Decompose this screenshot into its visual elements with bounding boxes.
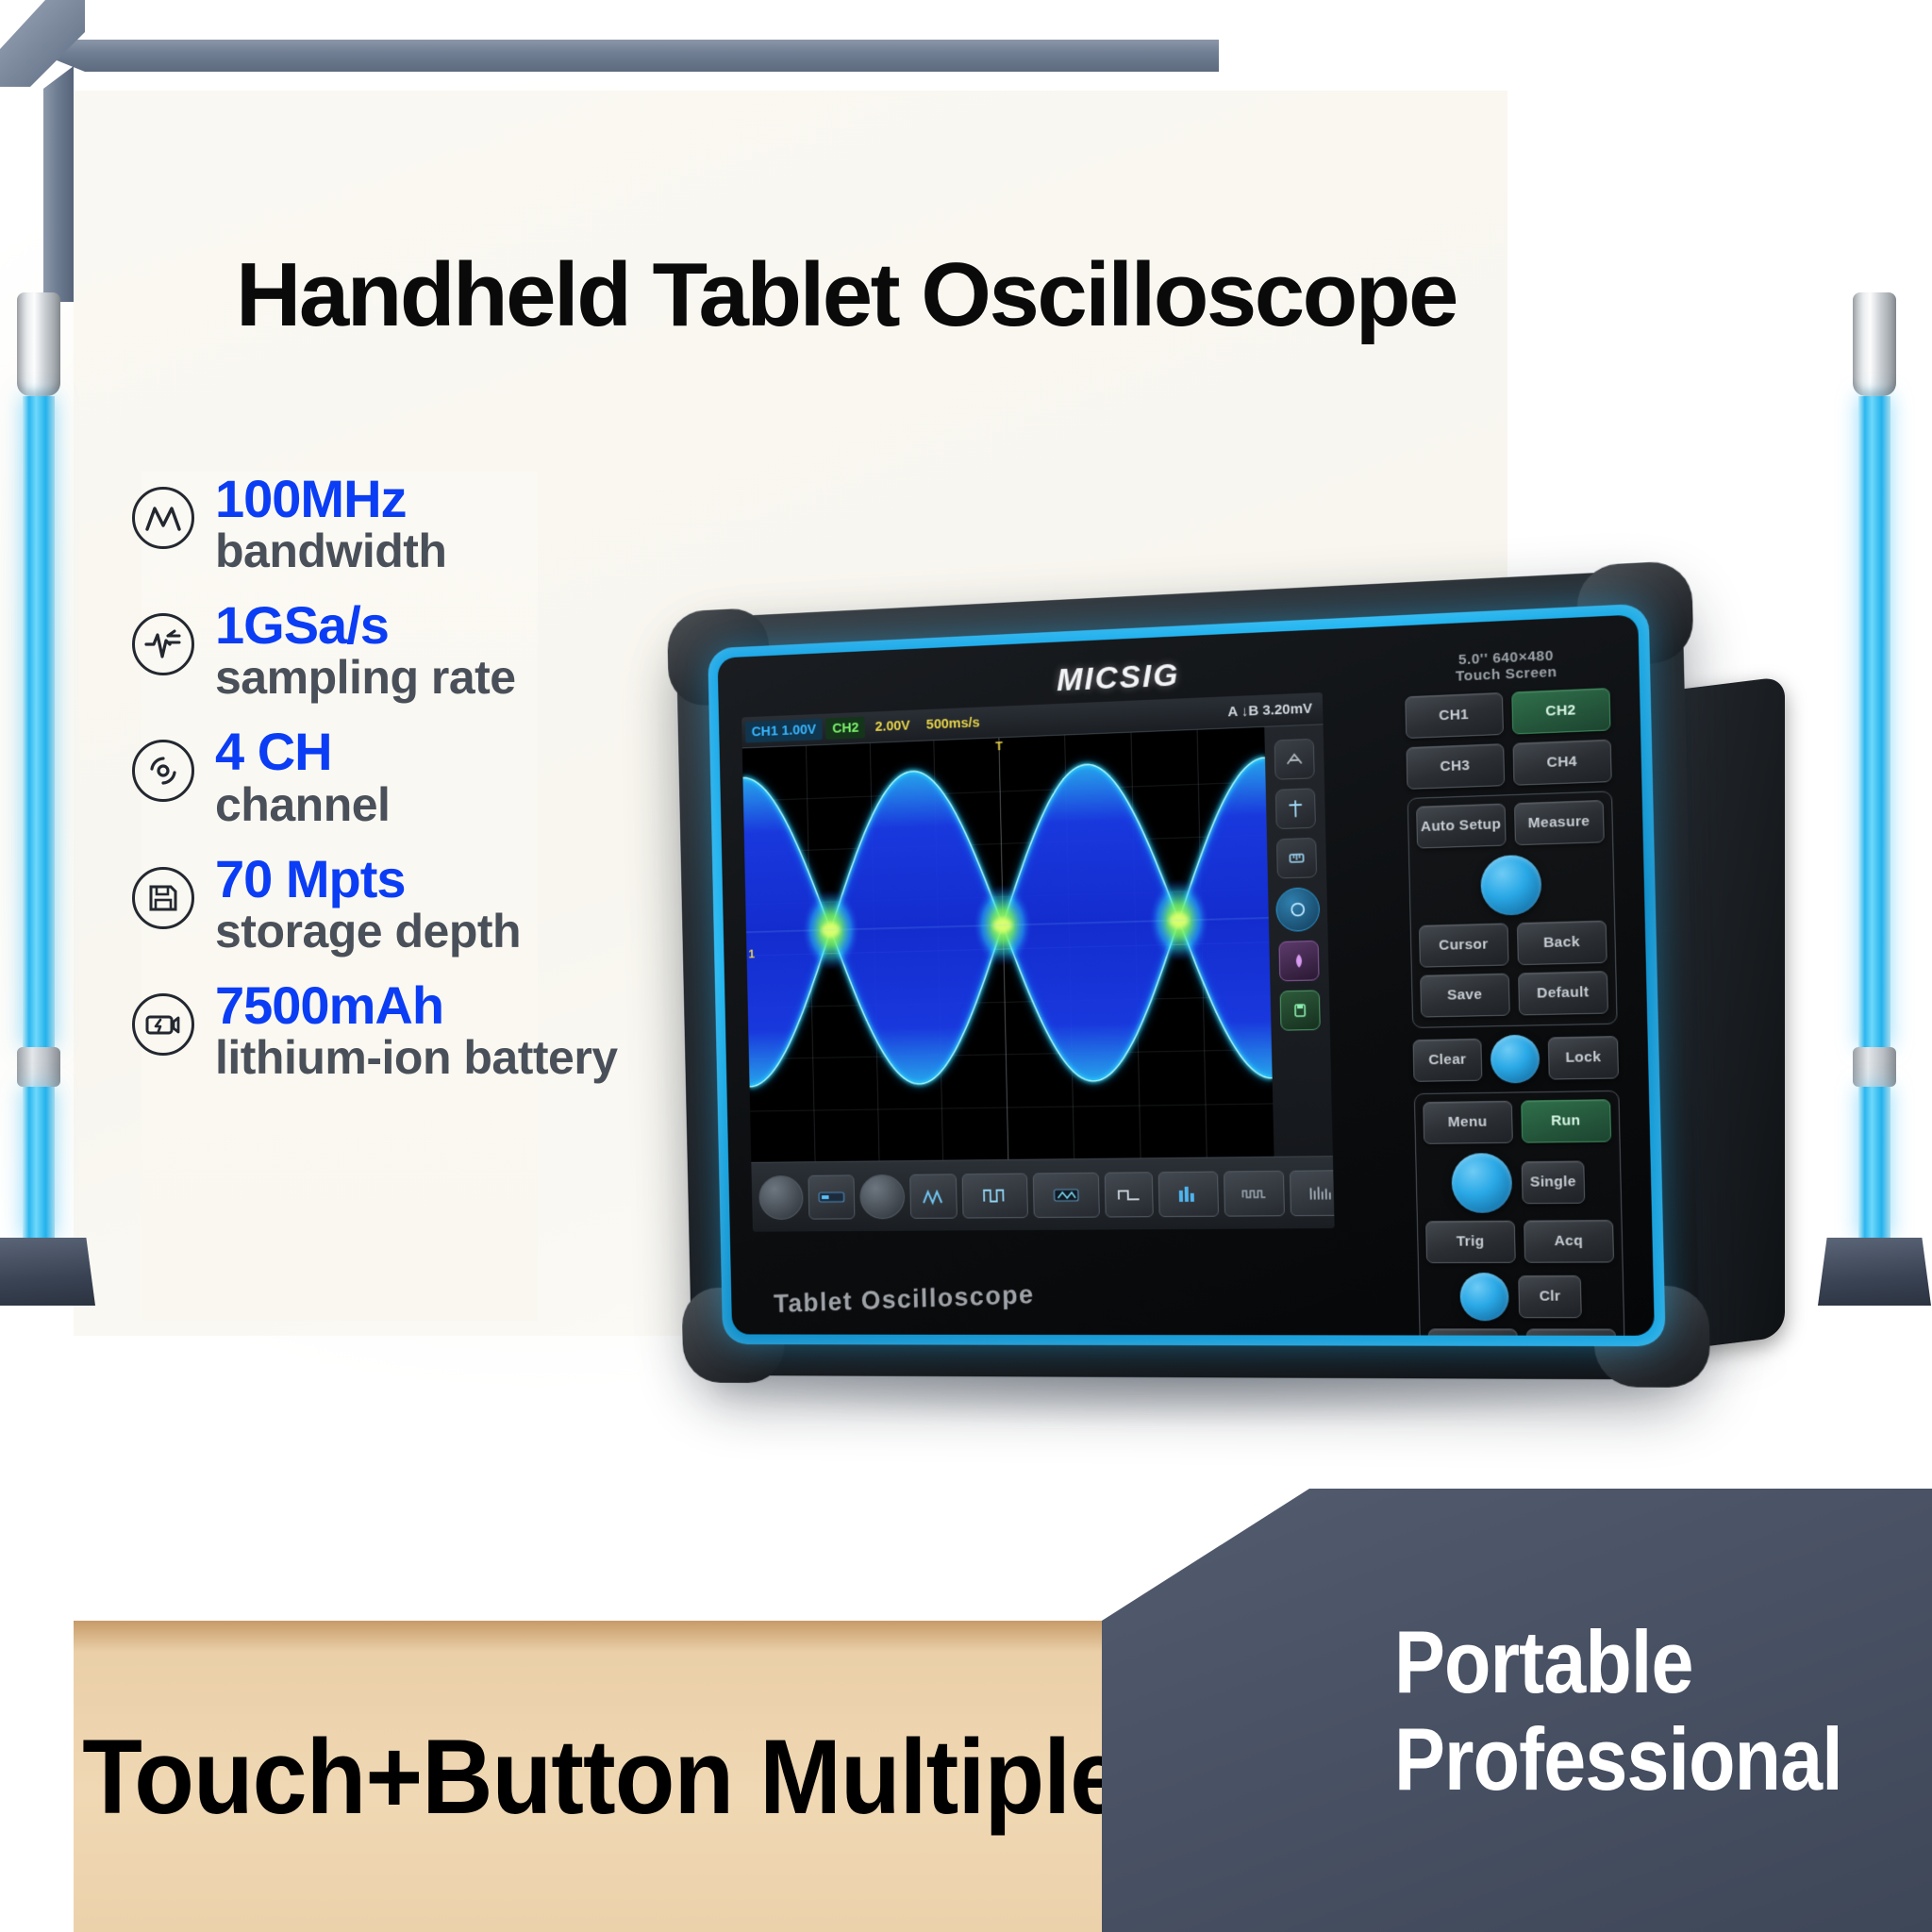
zoom-button[interactable] xyxy=(1290,1170,1335,1216)
frame-bracket-top-left xyxy=(0,0,85,87)
keypad-row: Trig Acq xyxy=(1425,1220,1614,1263)
cta-line-1: Portable xyxy=(1394,1613,1857,1710)
keypad-volt-row: Clear Lock xyxy=(1412,1032,1619,1084)
square-wave-button[interactable] xyxy=(1105,1172,1154,1217)
feature-value: 4 CH xyxy=(215,724,390,779)
decode-button[interactable] xyxy=(1224,1170,1285,1216)
key-measure[interactable]: Measure xyxy=(1513,799,1604,844)
knob-icon-2[interactable] xyxy=(859,1174,905,1218)
key-ch3[interactable]: CH3 xyxy=(1406,743,1504,790)
trigger-marker-t[interactable]: T xyxy=(995,739,1003,753)
key-menu[interactable]: Menu xyxy=(1423,1100,1512,1143)
key-back[interactable]: Back xyxy=(1516,920,1607,965)
keypad-row: CH1 CH2 xyxy=(1405,688,1610,739)
page-title: Handheld Tablet Oscilloscope xyxy=(236,243,1457,347)
math-icon[interactable] xyxy=(1278,941,1319,981)
key-trig[interactable]: Trig xyxy=(1425,1220,1515,1262)
trigger-readout[interactable]: A ↓B 3.20mV xyxy=(1221,697,1319,723)
storage-floppy-icon xyxy=(132,867,194,929)
cta-panel: Portable Professional xyxy=(1102,1489,1932,1932)
hardware-keypad[interactable]: 5.0'' 640×480 Touch Screen CH1 CH2 CH3 C… xyxy=(1396,635,1632,1316)
probe-glow-rod xyxy=(1858,396,1890,1047)
oscilloscope-screen[interactable]: CH1 1.00V CH2 2.00V 500ms/s A ↓B 3.20mV xyxy=(741,692,1335,1232)
probe-foot-icon xyxy=(1853,1047,1896,1087)
time-per-div-readout[interactable]: 500ms/s xyxy=(920,711,987,736)
feature-value: 1GSa/s xyxy=(215,598,516,653)
feature-item-sampling-rate: 1GSa/s sampling rate xyxy=(132,596,736,702)
key-ch1[interactable]: CH1 xyxy=(1405,691,1503,738)
measure-icon[interactable] xyxy=(1276,838,1317,879)
key-auto-setup[interactable]: Auto Setup xyxy=(1416,803,1506,848)
key-acq[interactable]: Acq xyxy=(1524,1220,1615,1263)
feature-value: 70 Mpts xyxy=(215,852,521,907)
run-stop-icon[interactable] xyxy=(1275,887,1320,932)
key-ch[interactable]: CH xyxy=(1525,1328,1617,1336)
probe-glow-rod xyxy=(23,396,55,1047)
key-single[interactable]: Single xyxy=(1522,1160,1586,1204)
device-bezel: MICSIG Tablet Oscilloscope CH1 1.00V CH2… xyxy=(718,614,1655,1335)
knob-icon[interactable] xyxy=(758,1174,804,1219)
screen-side-toolbar[interactable] xyxy=(1264,724,1333,1157)
key-clear[interactable]: Clear xyxy=(1412,1038,1482,1081)
probe-cap-icon xyxy=(17,292,60,396)
poster-canvas: Handheld Tablet Oscilloscope 100MHz band… xyxy=(0,0,1932,1932)
keypad-row: Menu Run xyxy=(1423,1099,1611,1144)
key-ch4[interactable]: CH4 xyxy=(1512,739,1612,785)
feature-label: bandwidth xyxy=(215,526,446,575)
feature-item-bandwidth: 100MHz bandwidth xyxy=(132,470,736,575)
probe-rod-left xyxy=(23,292,55,1306)
fft-button[interactable] xyxy=(1158,1171,1219,1217)
probe-base xyxy=(0,1238,95,1306)
key-ch2[interactable]: CH2 xyxy=(1511,688,1611,734)
sampling-pulse-icon xyxy=(132,613,194,675)
feature-label: channel xyxy=(215,780,390,829)
probe-glow-rod-lower xyxy=(23,1087,55,1238)
keypad-row: CH3 CH4 xyxy=(1406,739,1611,789)
bandwidth-wave-icon xyxy=(132,487,194,549)
feature-label: sampling rate xyxy=(215,653,516,702)
position-dial[interactable] xyxy=(1480,854,1542,915)
channel-tag-ch2[interactable]: CH2 xyxy=(825,717,865,740)
volt-dial[interactable] xyxy=(1491,1034,1541,1083)
probe-base xyxy=(1818,1238,1931,1306)
key-auto[interactable]: Auto xyxy=(1428,1328,1518,1336)
channel-loop-icon xyxy=(132,740,194,802)
auto-icon[interactable] xyxy=(1274,739,1315,780)
keypad-row: Save Default xyxy=(1420,971,1608,1017)
keypad-row: Cursor Back xyxy=(1419,920,1607,967)
trigger-dial[interactable] xyxy=(1459,1273,1509,1321)
save-icon[interactable] xyxy=(1280,990,1321,1030)
key-default[interactable]: Default xyxy=(1518,971,1608,1015)
key-lock[interactable]: Lock xyxy=(1548,1036,1619,1080)
dial-cluster-vertical[interactable] xyxy=(1417,850,1606,917)
probe-rod-right xyxy=(1858,292,1890,1306)
probe-cap-icon xyxy=(1853,292,1896,396)
feature-value: 100MHz xyxy=(215,472,446,526)
waveform-trace xyxy=(742,727,1274,1116)
screen-bottom-toolbar[interactable] xyxy=(751,1156,1334,1232)
bezel-model-label: Tablet Oscilloscope xyxy=(774,1279,1035,1319)
scale-dial[interactable] xyxy=(1451,1153,1512,1213)
timebase-button[interactable] xyxy=(1033,1172,1100,1217)
keypad-row: Auto Setup Measure xyxy=(1416,799,1605,848)
probe-foot-icon xyxy=(17,1047,60,1087)
feature-item-channel: 4 CH channel xyxy=(132,723,736,828)
feature-list: 100MHz bandwidth 1GSa/s sampling rate xyxy=(132,470,736,1103)
waveform-button[interactable] xyxy=(962,1173,1028,1218)
feature-value: 7500mAh xyxy=(215,978,618,1033)
feature-label: storage depth xyxy=(215,907,521,956)
keypad-title: 5.0'' 640×480 Touch Screen xyxy=(1404,645,1609,688)
oscilloscope-device: MICSIG Tablet Oscilloscope CH1 1.00V CH2… xyxy=(660,594,1821,1453)
cyan-accent-frame: MICSIG Tablet Oscilloscope CH1 1.00V CH2… xyxy=(708,603,1666,1346)
keypad-group-horizontal: Menu Run Single Trig Acq xyxy=(1414,1090,1626,1336)
key-run[interactable]: Run xyxy=(1521,1099,1611,1142)
feature-item-battery: 7500mAh lithium-ion battery xyxy=(132,976,736,1082)
keypad-row: Auto CH xyxy=(1428,1328,1617,1336)
cta-line-2: Professional xyxy=(1394,1710,1857,1807)
dial-cluster-horizontal[interactable]: Single xyxy=(1424,1149,1612,1212)
ch-select-button[interactable] xyxy=(808,1174,855,1219)
key-clr[interactable]: Clr xyxy=(1518,1274,1582,1317)
channel-tag-ch1[interactable]: CH1 1.00V xyxy=(745,719,823,743)
waveform-graticule[interactable]: 1 T xyxy=(742,727,1274,1162)
key-cursor[interactable]: Cursor xyxy=(1419,923,1508,967)
dial-cluster-trigger[interactable]: Clr xyxy=(1426,1270,1615,1321)
acquire-button[interactable] xyxy=(909,1174,958,1219)
feature-label: lithium-ion battery xyxy=(215,1033,618,1082)
key-save[interactable]: Save xyxy=(1420,973,1509,1017)
channel-marker-1[interactable]: 1 xyxy=(748,947,755,961)
battery-bolt-icon xyxy=(132,993,194,1056)
volts-per-div-readout[interactable]: 2.00V xyxy=(869,714,917,738)
feature-item-storage-depth: 70 Mpts storage depth xyxy=(132,850,736,956)
keypad-group-vertical: Auto Setup Measure Cursor Back xyxy=(1407,791,1618,1028)
probe-glow-rod-lower xyxy=(1858,1087,1890,1238)
brand-logo: MICSIG xyxy=(1057,657,1180,699)
cursor-icon[interactable] xyxy=(1275,788,1316,829)
device-body: MICSIG Tablet Oscilloscope CH1 1.00V CH2… xyxy=(675,569,1700,1380)
